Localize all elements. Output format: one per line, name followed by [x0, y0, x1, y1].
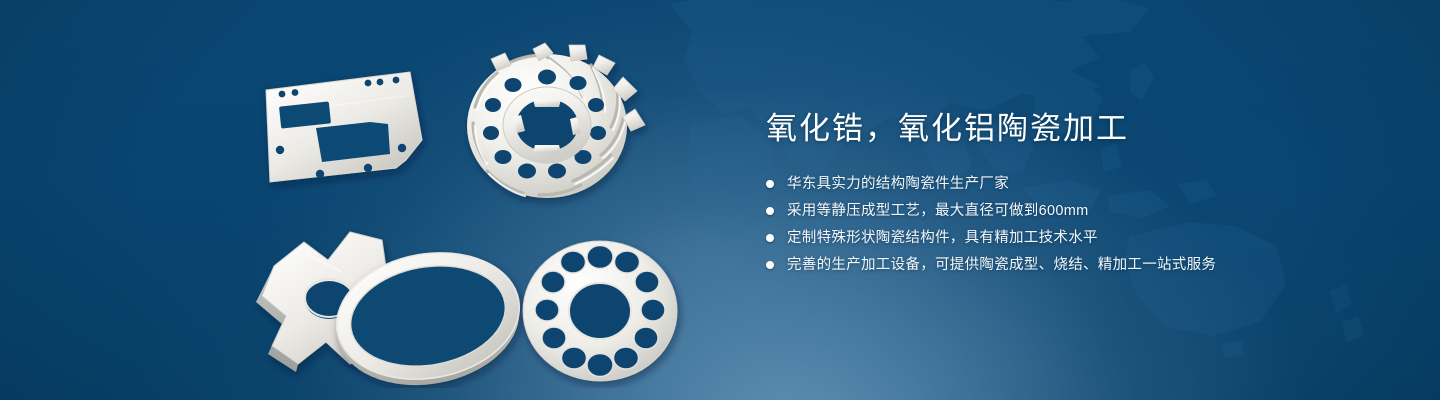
bullet-dot-icon	[766, 180, 774, 188]
ceramic-perforated-disc-part	[523, 241, 677, 381]
bullet-dot-icon	[766, 234, 774, 242]
list-item-label: 完善的生产加工设备，可提供陶瓷成型、烧结、精加工一站式服务	[787, 253, 1216, 277]
bullet-dot-icon	[766, 261, 774, 269]
list-item-label: 采用等静压成型工艺，最大直径可做到600mm	[787, 199, 1088, 223]
bullet-dot-icon	[766, 207, 774, 215]
list-item: 定制特殊形状陶瓷结构件，具有精加工技术水平	[766, 226, 1386, 250]
list-item: 完善的生产加工设备，可提供陶瓷成型、烧结、精加工一站式服务	[766, 253, 1386, 277]
hero-banner: 氧化锆，氧化铝陶瓷加工 华东具实力的结构陶瓷件生产厂家 采用等静压成型工艺，最大…	[0, 0, 1440, 400]
list-item: 采用等静压成型工艺，最大直径可做到600mm	[766, 199, 1386, 223]
list-item: 华东具实力的结构陶瓷件生产厂家	[766, 172, 1386, 196]
banner-copy: 氧化锆，氧化铝陶瓷加工 华东具实力的结构陶瓷件生产厂家 采用等静压成型工艺，最大…	[766, 108, 1386, 280]
page-title: 氧化锆，氧化铝陶瓷加工	[766, 108, 1386, 150]
ceramic-plate-part	[266, 72, 422, 182]
product-photo-cluster	[210, 28, 730, 388]
list-item-label: 定制特殊形状陶瓷结构件，具有精加工技术水平	[787, 226, 1098, 250]
list-item-label: 华东具实力的结构陶瓷件生产厂家	[787, 172, 1009, 196]
ceramic-impeller-part	[467, 43, 645, 198]
feature-list: 华东具实力的结构陶瓷件生产厂家 采用等静压成型工艺，最大直径可做到600mm 定…	[766, 172, 1386, 277]
